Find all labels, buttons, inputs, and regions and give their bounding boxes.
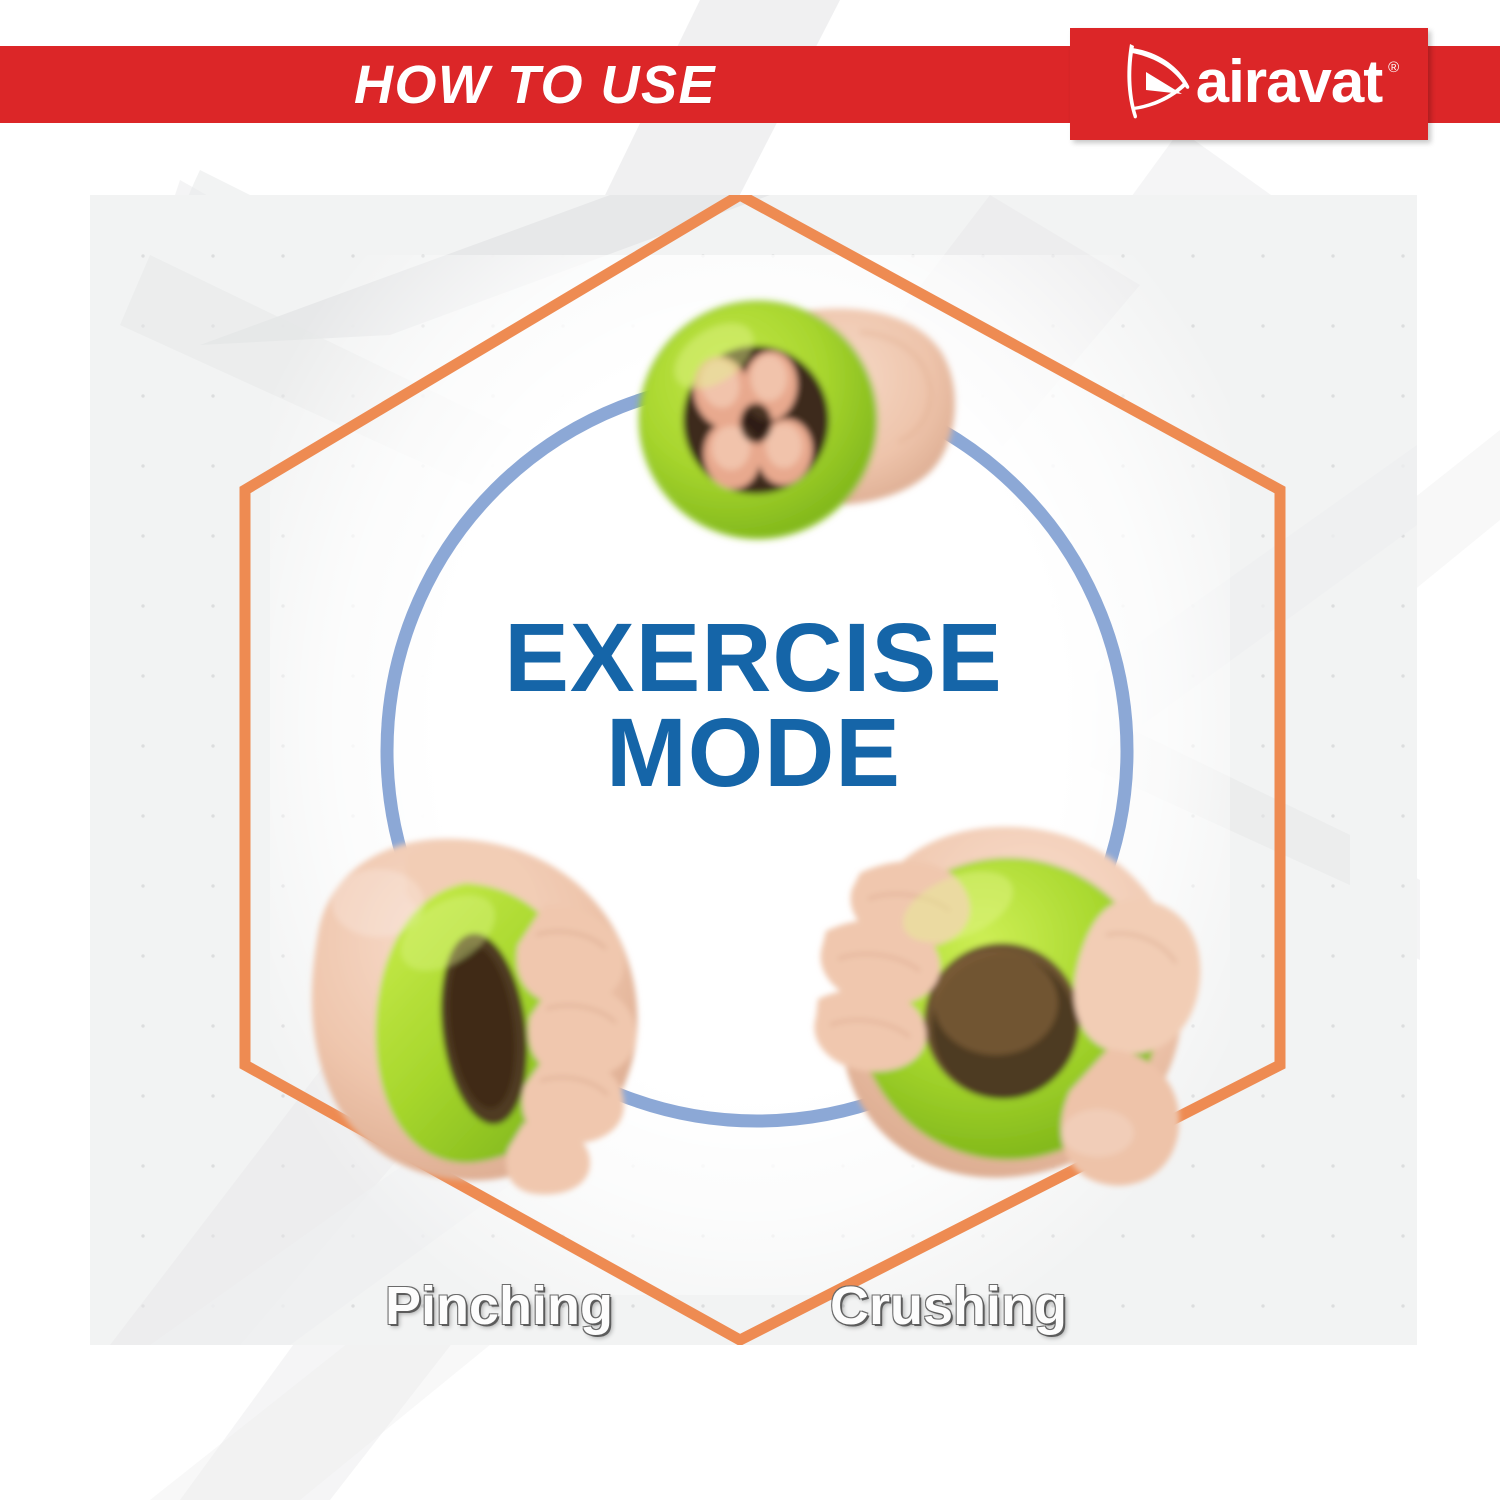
brand-logo-plate[interactable]: airavat ® bbox=[1070, 28, 1428, 140]
instruction-image-panel: EXERCISE MODE bbox=[90, 195, 1417, 1345]
hand-photo-crushing bbox=[790, 803, 1220, 1213]
registered-trademark-icon: ® bbox=[1388, 60, 1398, 75]
headline-line-1: EXERCISE bbox=[504, 603, 1003, 712]
headline-line-2: MODE bbox=[90, 705, 1417, 800]
brand-name-text: airavat bbox=[1196, 48, 1382, 115]
hand-photo-gripping bbox=[610, 280, 1010, 570]
caption-crushing: Crushing bbox=[830, 1275, 1067, 1337]
hand-photo-pinching bbox=[298, 813, 718, 1213]
caption-pinching: Pinching bbox=[385, 1275, 613, 1337]
brand-name: airavat ® bbox=[1196, 52, 1382, 112]
airavat-bow-arc-icon bbox=[1116, 38, 1194, 127]
headline-exercise-mode: EXERCISE MODE bbox=[90, 610, 1417, 800]
page-title: HOW TO USE bbox=[0, 46, 1070, 123]
